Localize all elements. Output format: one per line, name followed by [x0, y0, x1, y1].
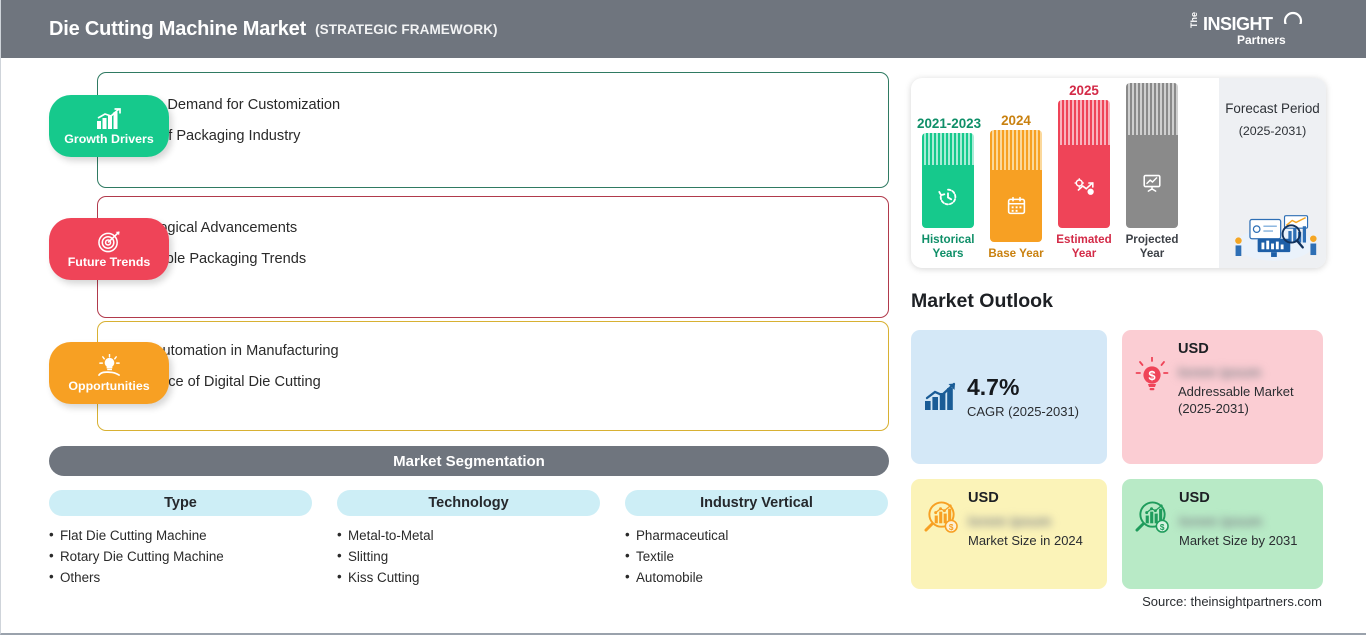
addressable-market-body: USD lorem ipsum Addressable Market (2025… — [1178, 341, 1310, 418]
addressable-market-card: $ USD lorem ipsum Addressable Market (20… — [1122, 330, 1323, 464]
card-caption: Market Size in 2024 — [968, 532, 1094, 550]
market-segmentation-header: Market Segmentation — [49, 446, 889, 476]
svg-text:$: $ — [1160, 523, 1165, 532]
segmentation-title: Market Segmentation — [393, 453, 545, 470]
list-item: Kiss Cutting — [337, 568, 600, 589]
market-size-2031-body: USD lorem ipsum Market Size by 2031 — [1179, 490, 1310, 549]
magnifier-chart-icon: $ — [924, 500, 959, 533]
insight-partners-logo: The INSIGHT Partners — [1189, 8, 1309, 50]
list-item: Flat Die Cutting Machine — [49, 526, 312, 547]
list-item: Automobile — [625, 568, 888, 589]
redacted-value: lorem ipsum — [968, 513, 1094, 528]
redacted-value: lorem ipsum — [1179, 513, 1310, 528]
source-attribution: Source: theinsightpartners.com — [1142, 594, 1322, 609]
segmentation-column-industry-vertical: Industry Vertical Pharmaceutical Textile… — [625, 490, 888, 588]
column-header-label: Type — [164, 495, 197, 511]
framework-left-column: Growing Demand for Customization Growth … — [1, 58, 906, 635]
lightbulb-dollar-icon: $ — [1135, 357, 1169, 393]
timeline-year: 2025 — [1053, 83, 1115, 98]
timeline-bar — [1058, 100, 1110, 228]
dashboard-analytics-icon — [1225, 202, 1321, 262]
badge-label: Opportunities — [68, 380, 149, 392]
column-header-label: Industry Vertical — [700, 495, 813, 511]
outlook-card-row-bottom: $ USD lorem ipsum Market Size in 2024 — [911, 479, 1323, 589]
segmentation-column-technology: Technology Metal-to-Metal Slitting Kiss … — [337, 490, 600, 588]
opportunities-badge[interactable]: Opportunities — [49, 342, 169, 404]
forecast-gear-icon — [1073, 176, 1096, 197]
page-header: Die Cutting Machine Market (STRATEGIC FR… — [1, 0, 1366, 58]
timeline-card: 2021-2023 Historical Years — [911, 78, 1326, 268]
timeline-item-estimated: 2025 Estimated — [1053, 83, 1115, 260]
outlook-cards: 4.7% CAGR (2025-2031) $ — [911, 330, 1323, 589]
page-title: Die Cutting Machine Market — [49, 18, 306, 41]
redacted-text: lorem ipsum — [968, 514, 1051, 528]
timeline-bar — [1126, 83, 1178, 228]
timeline-caption: Projected Year — [1121, 233, 1183, 260]
history-clock-icon — [937, 186, 959, 208]
cagr-card-body: 4.7% CAGR (2025-2031) — [967, 375, 1094, 419]
usd-label: USD — [1178, 341, 1310, 359]
list-item: Metal-to-Metal — [337, 526, 600, 547]
calendar-icon — [1006, 195, 1027, 216]
timeline-caption: Estimated Year — [1053, 233, 1115, 260]
list-item: Textile — [625, 547, 888, 568]
usd-label: USD — [1179, 490, 1310, 508]
bar-chart-growth-icon — [96, 107, 122, 131]
infographic-page: Die Cutting Machine Market (STRATEGIC FR… — [0, 0, 1366, 635]
column-header-pill: Technology — [337, 490, 600, 516]
market-size-2024-card: $ USD lorem ipsum Market Size in 2024 — [911, 479, 1107, 589]
column-header-label: Technology — [428, 495, 508, 511]
presentation-chart-icon — [1141, 171, 1163, 193]
magnifier-chart-icon: $ — [1135, 500, 1170, 533]
column-header-pill: Industry Vertical — [625, 490, 888, 516]
market-size-2024-body: USD lorem ipsum Market Size in 2024 — [968, 490, 1094, 549]
forecast-range: (2025-2031) — [1239, 124, 1307, 138]
market-outlook-title: Market Outlook — [911, 290, 1053, 313]
redacted-text: lorem ipsum — [1178, 365, 1261, 379]
right-column: 2021-2023 Historical Years — [906, 58, 1366, 635]
svg-text:INSIGHT: INSIGHT — [1203, 14, 1273, 34]
forecast-period-panel: Forecast Period (2025-2031) — [1219, 78, 1326, 268]
timeline-year: 2021-2023 — [917, 116, 979, 131]
redacted-text: lorem ipsum — [1179, 514, 1262, 528]
list-item: Pharmaceutical — [625, 526, 888, 547]
timeline-item-projected: 2031 Projected Year — [1121, 78, 1183, 260]
timeline-bars: 2021-2023 Historical Years — [911, 78, 1219, 268]
timeline-bar — [922, 133, 974, 228]
list-item: Slitting — [337, 547, 600, 568]
outlook-card-row-top: 4.7% CAGR (2025-2031) $ — [911, 330, 1323, 464]
usd-label: USD — [968, 490, 1094, 508]
badge-label: Growth Drivers — [64, 133, 154, 145]
timeline-item-base: 2024 Base Year — [985, 113, 1047, 260]
svg-text:The: The — [1189, 12, 1199, 28]
cagr-card: 4.7% CAGR (2025-2031) — [911, 330, 1107, 464]
lightbulb-hand-icon — [96, 354, 123, 378]
future-trends-badge[interactable]: Future Trends — [49, 218, 169, 280]
card-caption: Addressable Market (2025-2031) — [1178, 383, 1310, 418]
column-items: Pharmaceutical Textile Automobile — [625, 526, 888, 588]
timeline-caption: Base Year — [985, 247, 1047, 260]
segmentation-column-type: Type Flat Die Cutting Machine Rotary Die… — [49, 490, 312, 588]
list-item: Others — [49, 568, 312, 589]
forecast-label: Forecast Period — [1225, 100, 1320, 117]
svg-text:$: $ — [1148, 368, 1156, 383]
list-item: Rotary Die Cutting Machine — [49, 547, 312, 568]
growth-drivers-badge[interactable]: Growth Drivers — [49, 95, 169, 157]
segmentation-columns: Type Flat Die Cutting Machine Rotary Die… — [49, 490, 889, 588]
badge-label: Future Trends — [68, 256, 151, 268]
cagr-caption: CAGR (2025-2031) — [967, 404, 1094, 419]
svg-text:Partners: Partners — [1237, 33, 1286, 47]
svg-text:$: $ — [949, 523, 954, 532]
column-header-pill: Type — [49, 490, 312, 516]
cagr-value: 4.7% — [967, 375, 1094, 400]
target-dart-icon — [97, 230, 122, 254]
timeline-item-historical: 2021-2023 Historical Years — [917, 116, 979, 260]
page-subtitle: (STRATEGIC FRAMEWORK) — [315, 22, 498, 37]
timeline-bar — [990, 130, 1042, 242]
card-caption: Market Size by 2031 — [1179, 532, 1310, 550]
redacted-value: lorem ipsum — [1178, 364, 1310, 379]
timeline-year: 2024 — [985, 113, 1047, 128]
column-items: Flat Die Cutting Machine Rotary Die Cutt… — [49, 526, 312, 588]
timeline-year: 2031 — [1121, 78, 1183, 81]
market-size-2031-card: $ USD lorem ipsum Market Size by 2031 — [1122, 479, 1323, 589]
bar-chart-arrow-icon — [924, 382, 958, 412]
timeline-caption: Historical Years — [917, 233, 979, 260]
column-items: Metal-to-Metal Slitting Kiss Cutting — [337, 526, 600, 588]
